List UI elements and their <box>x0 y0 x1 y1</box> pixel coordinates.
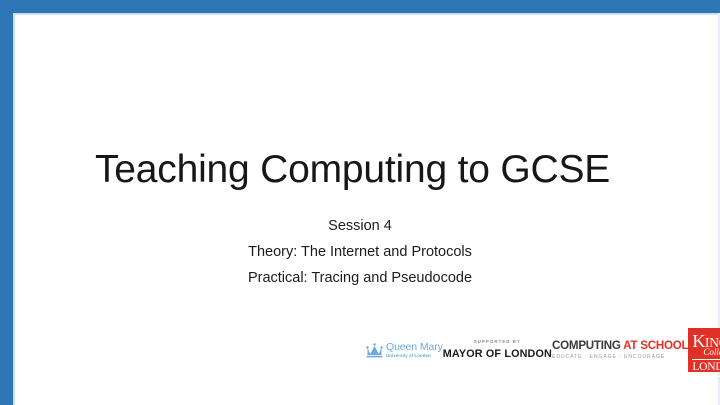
cas-wordmark: COMPUTING AT SCHOOL <box>552 340 688 352</box>
slide-border-left <box>0 0 13 405</box>
queen-mary-name: Queen Mary <box>386 342 443 353</box>
subtitle-line-theory: Theory: The Internet and Protocols <box>110 240 610 266</box>
queen-mary-subtitle: University of London <box>386 354 443 358</box>
subtitle-line-practical: Practical: Tracing and Pseudocode <box>110 266 610 292</box>
cas-word-at-school: AT SCHOOL <box>623 339 688 352</box>
cas-tagline: EDUCATE · ENGAGE · ENCOURAGE <box>552 355 688 360</box>
kcl-bottom-rule <box>692 376 720 377</box>
logo-computing-at-school: COMPUTING AT SCHOOL EDUCATE · ENGAGE · E… <box>552 340 688 360</box>
slide-border-top <box>0 0 720 13</box>
subtitle-line-session: Session 4 <box>110 214 610 240</box>
logo-queen-mary: Queen Mary University of London <box>366 342 443 358</box>
slide-title: Teaching Computing to GCSE <box>95 148 655 192</box>
kcl-college-line: College <box>703 348 720 357</box>
slide-border-inner-edge-left <box>13 13 15 405</box>
kcl-divider-rule <box>692 359 720 360</box>
slide-border-inner-edge-top <box>13 13 720 15</box>
crown-icon <box>366 343 383 358</box>
logo-kings-college-london: KING'S College LONDON <box>688 328 720 372</box>
logo-mayor-of-london: SUPPORTED BY MAYOR OF LONDON <box>443 340 552 359</box>
mayor-supported-by-label: SUPPORTED BY <box>474 340 521 344</box>
kcl-london-line: LONDON <box>692 362 720 374</box>
slide-subtitle-block: Session 4 Theory: The Internet and Proto… <box>110 214 610 291</box>
cas-word-computing: COMPUTING <box>552 339 623 352</box>
sponsor-logo-strip: Queen Mary University of London SUPPORTE… <box>366 327 706 373</box>
slide-canvas: Teaching Computing to GCSE Session 4 The… <box>0 0 720 405</box>
queen-mary-wordmark: Queen Mary University of London <box>386 342 443 358</box>
mayor-of-london-name: MAYOR OF LONDON <box>443 349 552 360</box>
